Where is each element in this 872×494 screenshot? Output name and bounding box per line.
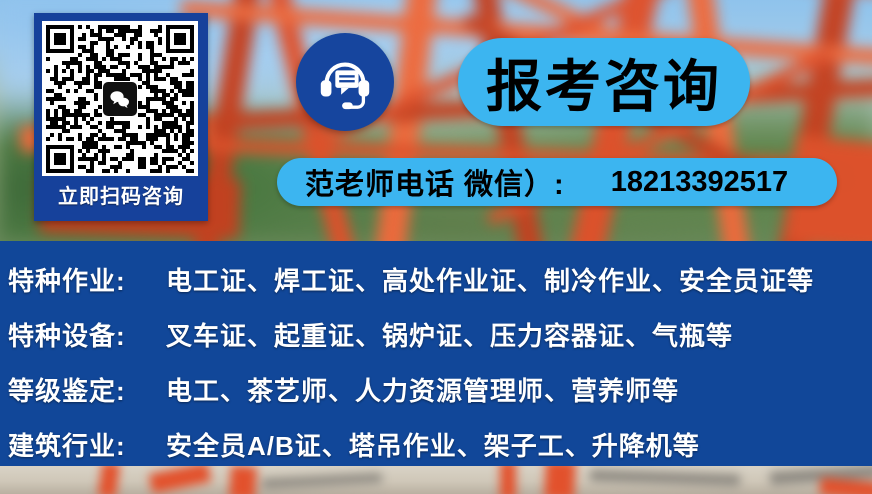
footer-photo-layer [0, 466, 872, 494]
info-row-value: 叉车证、起重证、锅炉证、压力容器证、气瓶等 [166, 316, 733, 353]
info-row-label: 特种设备: [8, 316, 166, 353]
promo-poster: 立即扫码咨询 报考咨询 范老师电话 微信）: 18213392517 特种作业:… [0, 0, 872, 494]
info-panel: 特种作业: 电工证、焊工证、高处作业证、制冷作业、安全员证等 特种设备: 叉车证… [0, 241, 872, 466]
phone-pill-label: 范老师电话 微信）: [305, 161, 565, 203]
phone-number: 18213392517 [611, 166, 788, 199]
info-row-special-operations: 特种作业: 电工证、焊工证、高处作业证、制冷作业、安全员证等 [0, 255, 872, 303]
info-row-grade-appraisal: 等级鉴定: 电工、茶艺师、人力资源管理师、营养师等 [0, 365, 872, 413]
info-row-label: 等级鉴定: [8, 371, 166, 408]
info-row-special-equipment: 特种设备: 叉车证、起重证、锅炉证、压力容器证、气瓶等 [0, 310, 872, 358]
info-row-value: 电工证、焊工证、高处作业证、制冷作业、安全员证等 [166, 261, 814, 298]
info-row-label: 特种作业: [8, 261, 166, 298]
title-pill-label: 报考咨询 [486, 42, 722, 123]
wechat-icon [103, 82, 137, 116]
info-row-label: 建筑行业: [8, 426, 166, 463]
info-row-value: 电工、茶艺师、人力资源管理师、营养师等 [166, 371, 679, 408]
phone-pill[interactable]: 范老师电话 微信）: 18213392517 [277, 158, 837, 206]
qr-caption: 立即扫码咨询 [37, 176, 205, 218]
qr-code-image[interactable] [42, 21, 198, 176]
info-row-construction-industry: 建筑行业: 安全员A/B证、塔吊作业、架子工、升降机等 [0, 420, 872, 468]
footer-photo-strip [0, 466, 872, 494]
qr-code-card[interactable]: 立即扫码咨询 [34, 13, 208, 221]
headset-chat-icon [314, 51, 376, 113]
headset-badge[interactable] [296, 33, 394, 131]
title-pill[interactable]: 报考咨询 [458, 38, 750, 126]
info-row-value: 安全员A/B证、塔吊作业、架子工、升降机等 [166, 426, 700, 463]
